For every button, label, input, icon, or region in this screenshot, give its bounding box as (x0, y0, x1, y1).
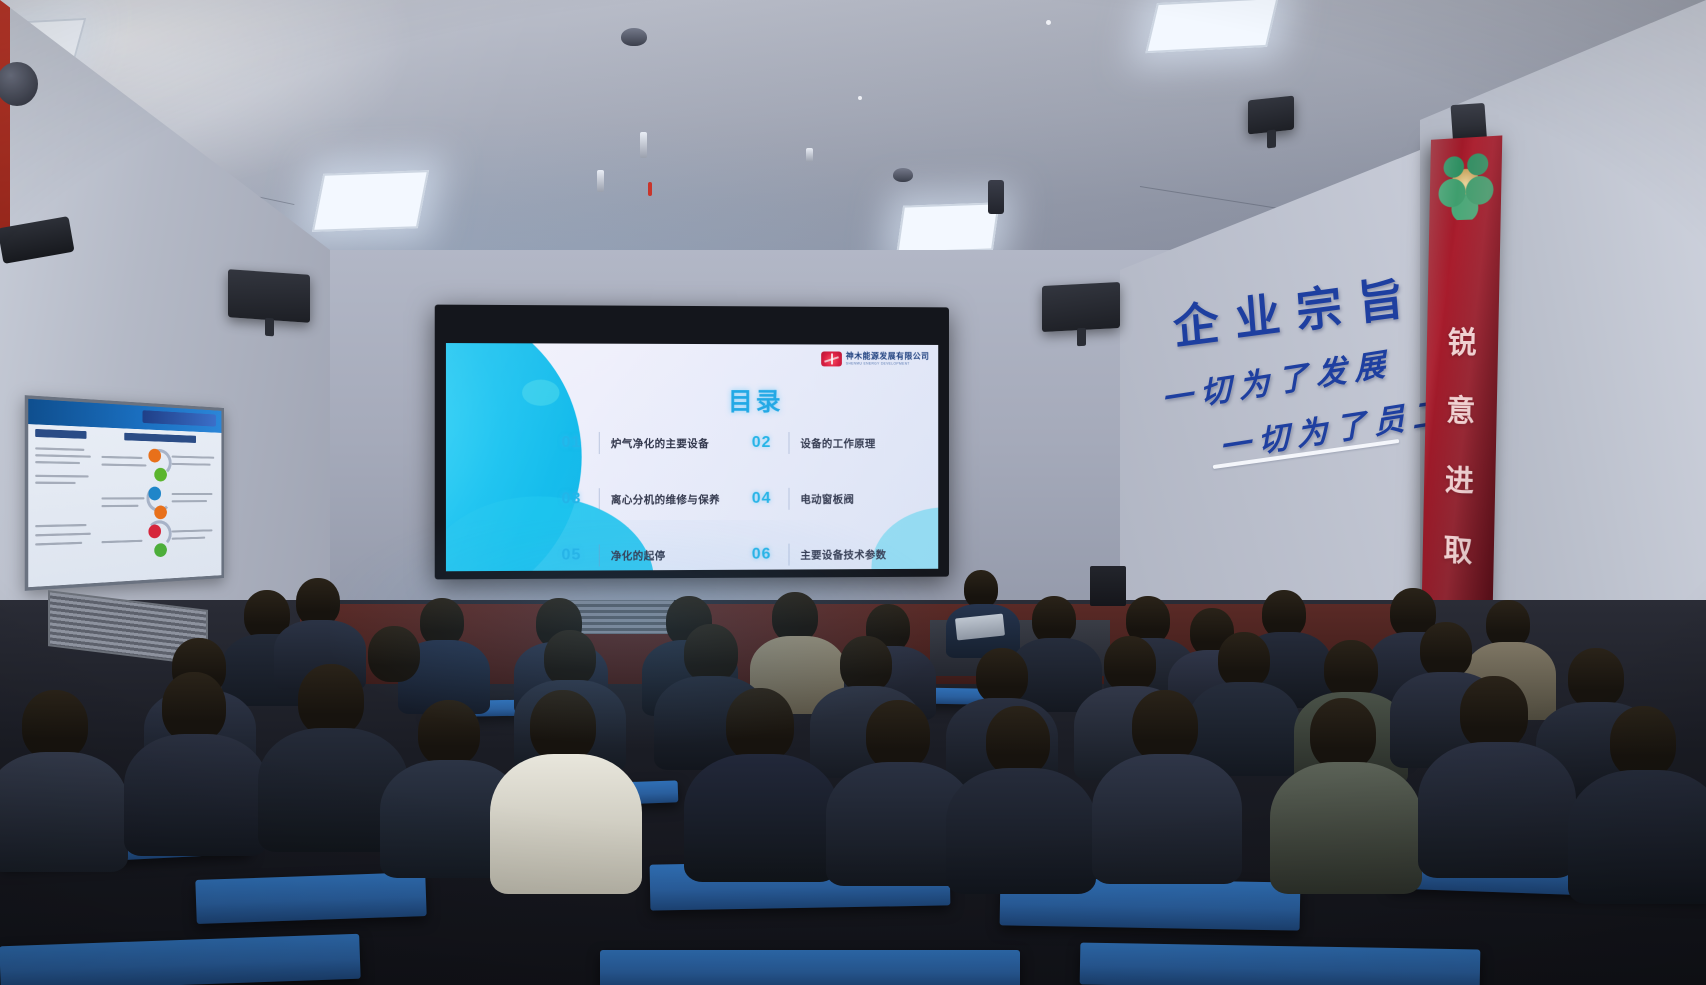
ceiling-fixture-dot (858, 96, 862, 100)
toc-label: 电动窗板阀 (800, 491, 854, 506)
toc-separator (599, 488, 600, 510)
desk (195, 872, 426, 924)
ceiling-fixture-dot (1046, 20, 1051, 25)
ceiling-panel-light (896, 202, 999, 253)
slide-content: 目录 01 炉气净化的主要设备 02 设备的工作原理 (446, 343, 938, 571)
slide-title: 目录 (691, 382, 820, 418)
toc-label: 净化的起停 (611, 548, 666, 563)
poster-flow-node (154, 506, 167, 520)
sprinkler-head (806, 148, 813, 162)
banner-shine (1421, 135, 1503, 661)
toc-separator (788, 432, 789, 454)
toc-separator (599, 432, 600, 454)
toc-item: 03 离心分机的维修与保养 (555, 488, 745, 510)
projection-screen: 神木能源发展有限公司 SHENMU ENERGY DEVELOPMENT 目录 … (435, 305, 949, 580)
toc-item: 05 净化的起停 (555, 544, 745, 567)
toc-separator (788, 488, 789, 510)
slide-background: 神木能源发展有限公司 SHENMU ENERGY DEVELOPMENT 目录 … (446, 343, 938, 571)
toc-number: 06 (752, 546, 778, 564)
toc-separator (599, 544, 600, 566)
hanging-speaker (988, 180, 1004, 214)
sprinkler-head (597, 170, 604, 192)
slide-toc: 01 炉气净化的主要设备 02 设备的工作原理 03 离心分机的维 (555, 432, 933, 567)
toc-item: 06 主要设备技术参数 (746, 543, 934, 566)
room-photo: 神木能源发展有限公司 SHENMU ENERGY DEVELOPMENT 目录 … (0, 0, 1706, 985)
red-hanging-banner: 锐 意 进 取 谱 (1421, 135, 1503, 661)
projected-slide: 神木能源发展有限公司 SHENMU ENERGY DEVELOPMENT 目录 … (446, 343, 938, 571)
wall-speaker (1248, 96, 1294, 135)
toc-item: 04 电动窗板阀 (746, 488, 934, 510)
sprinkler-head (640, 132, 647, 158)
toc-number: 03 (562, 490, 588, 508)
desk (1080, 943, 1481, 985)
toc-number: 01 (562, 434, 588, 452)
wall-red-stripe (0, 0, 10, 240)
toc-item: 01 炉气净化的主要设备 (555, 432, 745, 454)
poster-heading-left (35, 429, 86, 439)
ceiling-panel-light (1145, 0, 1278, 53)
toc-item: 02 设备的工作原理 (746, 432, 934, 454)
poster-flow-node (148, 487, 161, 501)
wall-poster (25, 395, 224, 591)
poster-heading-right (124, 433, 196, 443)
toc-label: 炉气净化的主要设备 (611, 435, 709, 450)
ceiling-panel-light (312, 170, 429, 232)
poster-flow-node (154, 543, 167, 557)
toc-number: 05 (562, 546, 588, 564)
wall-speaker (1042, 282, 1120, 332)
poster-flow-node (154, 468, 167, 482)
toc-number: 04 (752, 490, 778, 508)
desk (600, 950, 1020, 985)
smoke-detector-icon (621, 28, 647, 46)
toc-number: 02 (752, 434, 778, 452)
wall-speaker (228, 269, 310, 323)
poster-flow-node (148, 449, 161, 463)
sprinkler-pipe (648, 182, 652, 196)
toc-label: 设备的工作原理 (800, 436, 875, 451)
toc-separator (788, 544, 789, 566)
toc-label: 离心分机的维修与保养 (611, 491, 720, 506)
smoke-detector-icon (893, 168, 913, 182)
side-monitor (1090, 566, 1126, 606)
toc-label: 主要设备技术参数 (800, 547, 886, 562)
